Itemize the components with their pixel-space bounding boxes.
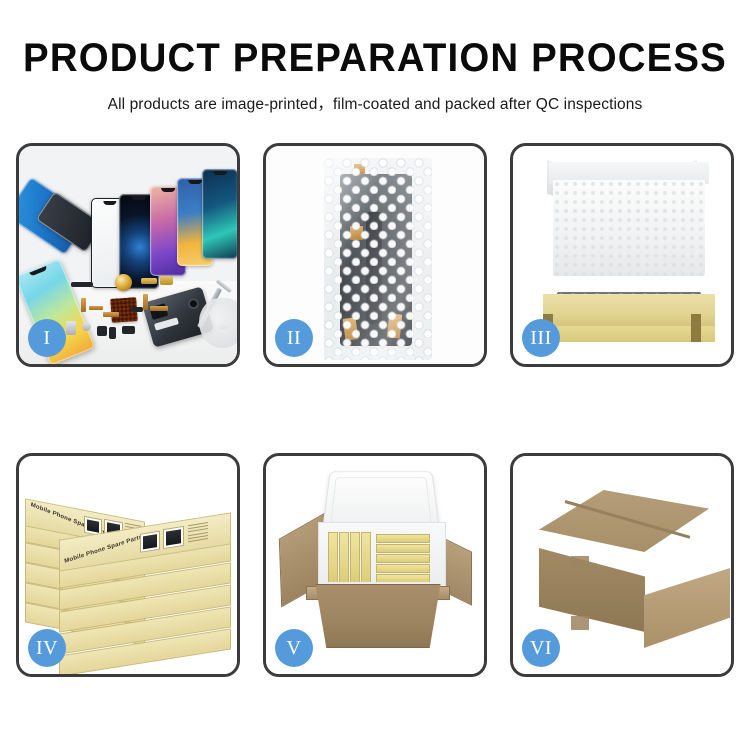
step-badge-5: V bbox=[275, 629, 313, 667]
spare-part-icon bbox=[66, 321, 76, 335]
step-badge-1: I bbox=[28, 319, 66, 357]
mailer-tray-icon bbox=[543, 294, 715, 328]
retail-box bbox=[328, 532, 338, 582]
retail-box bbox=[361, 532, 371, 582]
process-step-panel-6[interactable]: VI bbox=[510, 453, 734, 677]
foam-liner-icon bbox=[553, 180, 705, 276]
carton-tape-icon bbox=[571, 616, 589, 630]
box-window-icon bbox=[163, 526, 184, 549]
spare-part-icon bbox=[122, 326, 135, 334]
page-header: PRODUCT PREPARATION PROCESS All products… bbox=[0, 0, 750, 114]
spare-part-icon bbox=[71, 282, 93, 287]
spare-part-icon bbox=[89, 306, 103, 310]
process-step-panel-2[interactable]: II bbox=[263, 143, 487, 367]
gold-round-component-icon bbox=[115, 274, 132, 291]
step-badge-2: II bbox=[275, 319, 313, 357]
spare-part-icon bbox=[82, 322, 91, 331]
retail-boxes-inside bbox=[328, 532, 434, 582]
box-window-icon bbox=[140, 531, 160, 553]
spare-part-icon bbox=[81, 298, 86, 312]
step-badge-3: III bbox=[522, 319, 560, 357]
carton-body-icon bbox=[310, 584, 446, 648]
box-spec-lines bbox=[188, 522, 208, 544]
mailer-tray-edge-icon bbox=[691, 314, 701, 342]
spare-part-icon bbox=[131, 307, 143, 312]
retail-box bbox=[350, 532, 360, 582]
step-badge-4: IV bbox=[28, 629, 66, 667]
bubble-wrap-bag-icon bbox=[324, 158, 432, 360]
spare-part-icon bbox=[160, 276, 173, 285]
retail-box bbox=[339, 532, 349, 582]
spare-part-icon bbox=[141, 278, 157, 284]
retail-box bbox=[376, 564, 430, 573]
process-step-panel-3[interactable]: III bbox=[510, 143, 734, 367]
retail-box bbox=[376, 554, 430, 563]
spare-part-icon bbox=[97, 326, 107, 336]
spare-part-icon bbox=[150, 306, 168, 311]
spare-part-icon bbox=[109, 327, 116, 339]
step-badge-6: VI bbox=[522, 629, 560, 667]
carton-right-face-icon bbox=[644, 568, 730, 648]
process-step-panel-4[interactable]: Mobile Phone Spare Parts bbox=[16, 453, 240, 677]
process-step-grid: I II bbox=[16, 143, 734, 677]
plastic-sheen bbox=[324, 158, 432, 360]
process-step-panel-1[interactable]: I bbox=[16, 143, 240, 367]
carton-left-face-icon bbox=[539, 548, 645, 632]
spare-part-icon bbox=[143, 294, 148, 310]
mailer-tray-front-icon bbox=[543, 326, 715, 342]
phone-teal-wave-icon bbox=[202, 169, 237, 259]
page-subtitle: All products are image-printed，film-coat… bbox=[0, 92, 750, 114]
carton-tape-icon bbox=[571, 556, 589, 572]
retail-box bbox=[376, 544, 430, 553]
retail-box bbox=[376, 574, 430, 582]
process-step-panel-5[interactable]: V bbox=[263, 453, 487, 677]
retail-box bbox=[376, 534, 430, 543]
spare-part-icon bbox=[103, 312, 119, 317]
page-title: PRODUCT PREPARATION PROCESS bbox=[15, 38, 735, 78]
